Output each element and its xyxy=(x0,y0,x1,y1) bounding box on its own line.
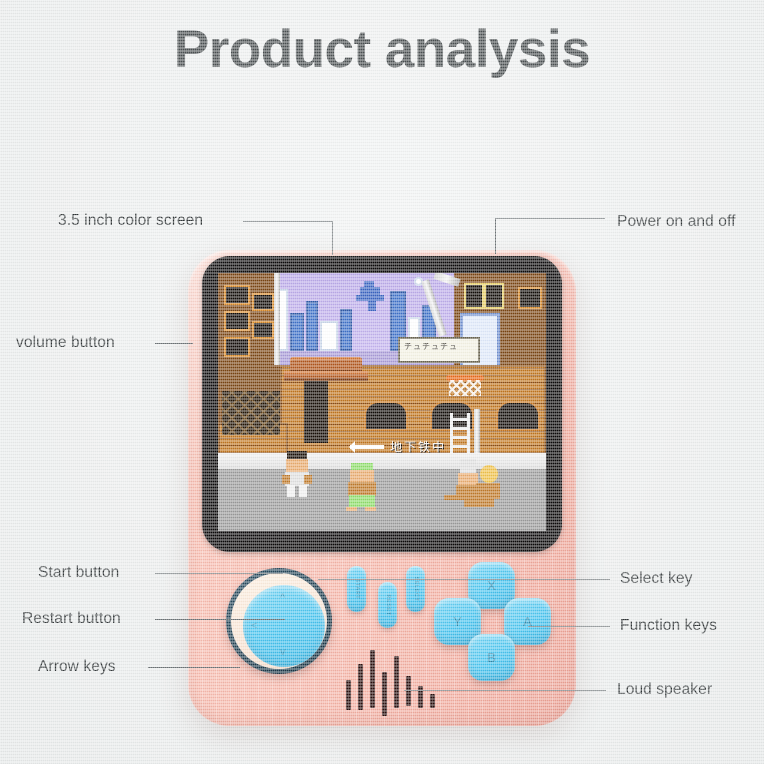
loud-speaker xyxy=(346,650,442,716)
callout-start: Start button xyxy=(38,564,119,582)
callout-power: Power on and off xyxy=(617,213,736,231)
start-button-label: START xyxy=(354,579,360,600)
leader-restart xyxy=(155,619,202,620)
handheld-console: チュチュチュ 地下铁中 xyxy=(188,250,576,726)
arrow-keys-dpad[interactable]: ^ < v xyxy=(226,568,332,674)
game-character-3 xyxy=(456,455,504,509)
b-button[interactable]: B xyxy=(468,634,515,681)
callout-arrow: Arrow keys xyxy=(38,658,116,676)
callout-volume: volume button xyxy=(16,334,115,352)
leader-power-h xyxy=(495,218,605,219)
dpad-ring: ^ < v xyxy=(231,573,327,669)
screen-bezel: チュチュチュ 地下铁中 xyxy=(202,256,562,552)
game-screen: チュチュチュ 地下铁中 xyxy=(218,273,546,531)
infographic-canvas: Product analysis xyxy=(0,0,764,764)
restart-button-label: RESET xyxy=(385,594,391,615)
leader-screen-v xyxy=(332,221,333,255)
start-button[interactable]: START xyxy=(347,566,366,612)
dpad-face[interactable]: ^ < v xyxy=(243,585,325,667)
callout-screen: 3.5 inch color screen xyxy=(58,212,203,230)
callout-select: Select key xyxy=(620,570,693,588)
leader-arrow xyxy=(148,667,240,668)
callout-function: Function keys xyxy=(620,617,717,635)
dpad-down-mark: v xyxy=(280,647,286,658)
callout-speaker: Loud speaker xyxy=(617,681,712,699)
leader-restart-2 xyxy=(202,619,285,620)
game-character-2 xyxy=(346,463,378,509)
leader-start xyxy=(155,573,283,574)
leader-volume xyxy=(155,343,193,344)
dpad-up-mark: ^ xyxy=(280,593,285,604)
game-character-1 xyxy=(282,451,312,497)
page-title: Product analysis xyxy=(0,22,764,78)
leader-select xyxy=(318,579,610,580)
store-sign-text: チュチュチュ xyxy=(404,343,458,351)
dpad-left-mark: < xyxy=(251,621,257,632)
restart-button[interactable]: RESET xyxy=(378,582,397,628)
callout-restart: Restart button xyxy=(22,610,121,628)
leader-screen-h xyxy=(243,221,333,222)
select-key[interactable]: SELECT xyxy=(406,566,425,612)
leader-function xyxy=(528,626,610,627)
leader-speaker xyxy=(404,690,606,691)
leader-power-v xyxy=(495,218,496,254)
